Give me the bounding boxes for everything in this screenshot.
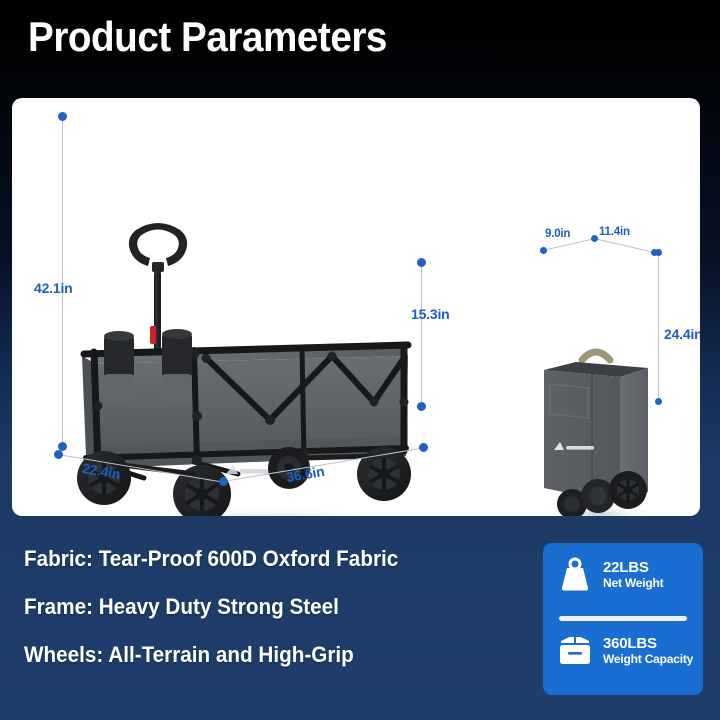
stat-weight-capacity: 360LBS Weight Capacity xyxy=(553,635,693,667)
dimension-dot-height-top xyxy=(58,112,67,121)
dimension-dot-base-left xyxy=(54,450,63,459)
stat-net-weight-label: Net Weight xyxy=(603,576,663,590)
dimension-dot-bed-bottom xyxy=(417,402,426,411)
infographic-root: Product Parameters xyxy=(0,0,720,720)
dimension-dot-folded-bottom xyxy=(655,398,662,405)
spec-item-fabric: Fabric: Tear-Proof 600D Oxford Fabric xyxy=(24,548,494,570)
folded-carry-handle xyxy=(582,352,610,360)
weight-icon xyxy=(553,557,597,593)
dimension-label-folded-depth: 9.0in xyxy=(545,228,570,240)
dimension-label-height: 42.1in xyxy=(34,280,73,296)
spec-item-frame: Frame: Heavy Duty Strong Steel xyxy=(24,596,494,618)
stat-net-weight-value: 22LBS xyxy=(603,559,663,576)
box-icon xyxy=(553,635,597,667)
stats-card: 22LBS Net Weight 360LBS Weight Capacity xyxy=(543,543,703,695)
dimension-dot-folded-top xyxy=(655,249,662,256)
stat-capacity-label: Weight Capacity xyxy=(603,652,693,666)
card-divider xyxy=(559,616,687,621)
stat-capacity-value: 360LBS xyxy=(603,635,693,652)
handle-release-tab xyxy=(150,326,156,344)
dimension-label-bed-depth: 15.3in xyxy=(411,306,450,322)
dimension-dot-folded-mid xyxy=(591,235,598,242)
dimension-label-folded-width: 11.4in xyxy=(599,226,630,238)
folded-product-illustration xyxy=(532,338,672,516)
dimension-line-folded-height xyxy=(658,252,659,402)
dimension-label-folded-height: 24.4in xyxy=(664,326,700,342)
dimension-line-bed-depth xyxy=(421,262,422,406)
main-product-illustration xyxy=(74,206,444,516)
dimension-line-folded-depth xyxy=(543,238,594,251)
dimension-dot-folded-left xyxy=(540,247,547,254)
stat-net-weight: 22LBS Net Weight xyxy=(553,557,663,593)
dimension-dot-base-center xyxy=(219,477,228,486)
spec-item-wheels: Wheels: All-Terrain and High-Grip xyxy=(24,644,494,666)
spec-list: Fabric: Tear-Proof 600D Oxford Fabric Fr… xyxy=(24,548,524,692)
product-image-panel: 42.1in 15.3in 22.4in 36.6in xyxy=(12,98,700,516)
page-title: Product Parameters xyxy=(28,16,387,58)
dimension-dot-base-right xyxy=(419,443,428,452)
dimension-line-folded-width xyxy=(594,238,654,253)
dimension-dot-bed-top xyxy=(417,258,426,267)
